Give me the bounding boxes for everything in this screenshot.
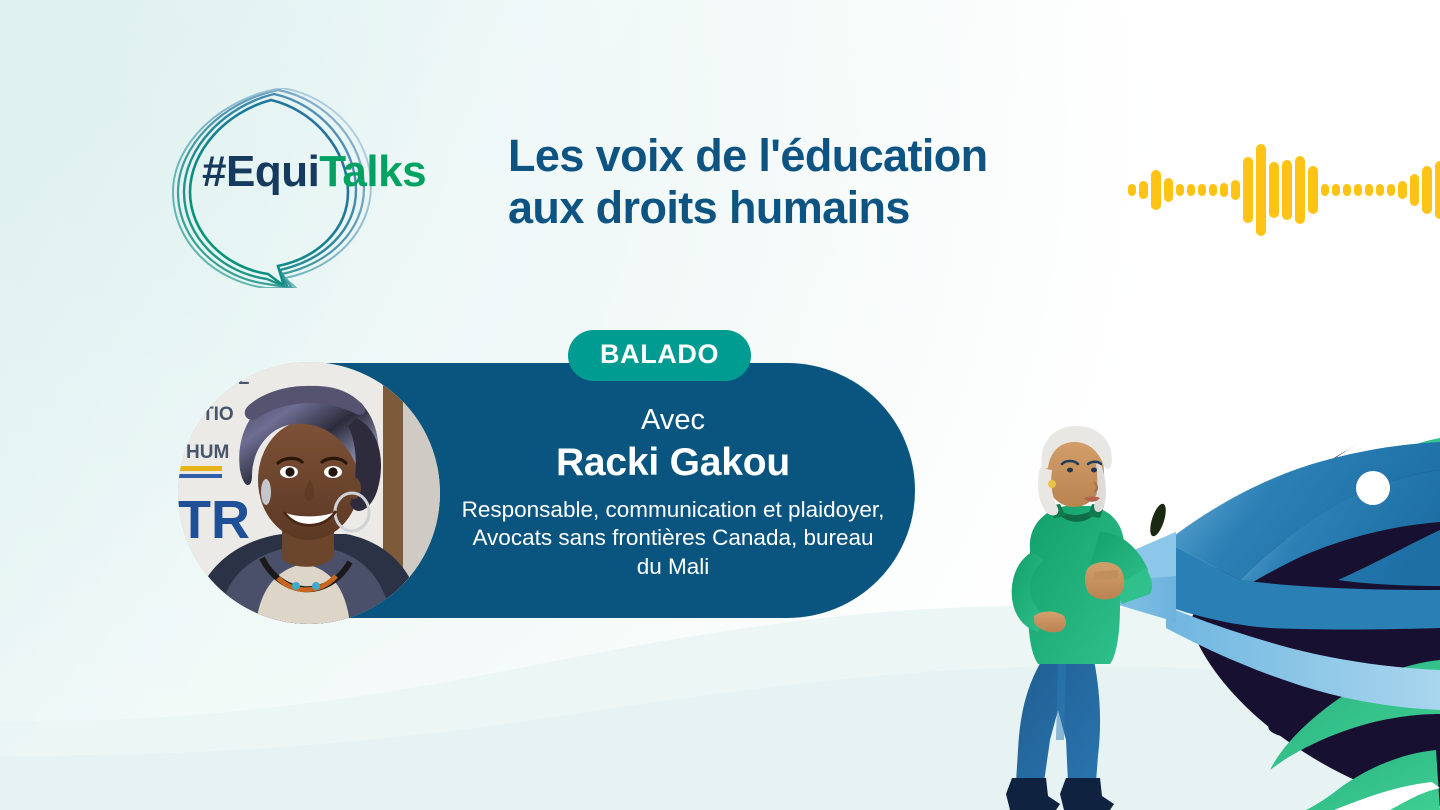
waveform-bar xyxy=(1151,170,1161,210)
with-label: Avec xyxy=(641,405,705,437)
waveform-bar xyxy=(1376,184,1384,196)
waveform-bar xyxy=(1308,166,1318,214)
woman-with-megaphone-illustration xyxy=(970,410,1440,810)
podcast-promo-slide: #EquiTalks Les voix de l'éducation aux d… xyxy=(0,0,1440,810)
page-title: Les voix de l'éducation aux droits humai… xyxy=(508,130,1128,234)
waveform-bar xyxy=(1422,166,1432,214)
waveform-bar xyxy=(1398,181,1407,199)
waveform-bar xyxy=(1387,184,1395,196)
speaker-card-content: Avec Racki Gakou Responsable, communicat… xyxy=(443,363,903,618)
waveform-bar xyxy=(1410,174,1419,205)
waveform-bar xyxy=(1256,144,1266,236)
waveform-bar xyxy=(1209,184,1217,197)
waveform-bar xyxy=(1332,184,1340,196)
page-title-line-2: aux droits humains xyxy=(508,182,1128,234)
waveform-bar xyxy=(1187,184,1195,196)
svg-text:TR: TR xyxy=(178,490,250,550)
waveform-bar xyxy=(1198,184,1206,197)
waveform-bar xyxy=(1220,183,1228,198)
portrait-image: AL TIO HUM TR xyxy=(178,362,440,624)
waveform-bar xyxy=(1231,180,1240,200)
logo-hash-word: #Equi xyxy=(202,147,319,196)
svg-text:HUM: HUM xyxy=(186,442,229,463)
waveform-bar xyxy=(1269,162,1279,217)
waveform-bar xyxy=(1282,160,1292,221)
waveform-bar xyxy=(1321,184,1329,197)
waveform-bar xyxy=(1164,178,1173,202)
waveform-bar xyxy=(1176,184,1184,196)
waveform-bar xyxy=(1139,181,1148,199)
waveform-bar xyxy=(1343,184,1351,196)
waveform-bar xyxy=(1243,157,1253,223)
status-badge: BALADO xyxy=(568,330,751,381)
audio-waveform-icon xyxy=(1128,144,1440,236)
logo-wordmark: #EquiTalks xyxy=(202,150,426,194)
equitalks-logo[interactable]: #EquiTalks xyxy=(168,88,468,288)
page-title-line-1: Les voix de l'éducation xyxy=(508,130,1128,182)
waveform-bar xyxy=(1295,156,1305,224)
waveform-bar xyxy=(1128,184,1136,197)
avatar: AL TIO HUM TR xyxy=(178,362,440,624)
megaphone-illustration-graphic xyxy=(970,410,1440,810)
waveform-bar xyxy=(1354,184,1362,195)
waveform-bar xyxy=(1435,161,1440,220)
waveform-bar xyxy=(1365,184,1373,195)
logo-accent-word: Talks xyxy=(319,147,426,196)
speaker-name: Racki Gakou xyxy=(556,442,790,485)
speaker-role: Responsable, communication et plaidoyer,… xyxy=(458,496,888,582)
